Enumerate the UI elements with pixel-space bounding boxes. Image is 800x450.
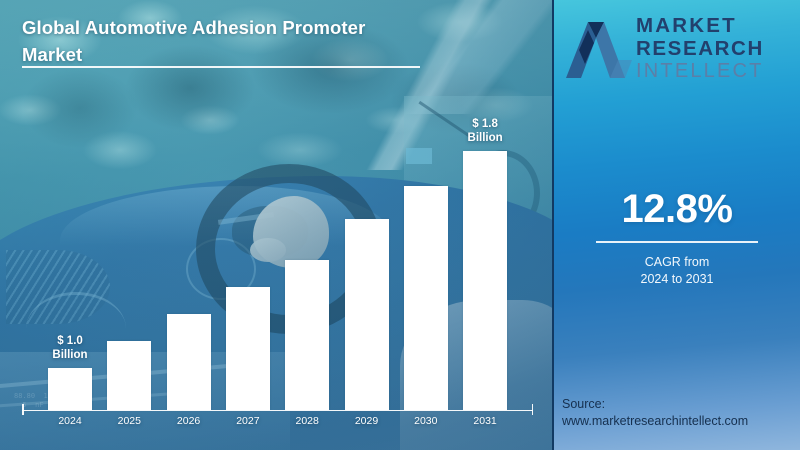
- bar-value-amount-2024: $ 1.0: [25, 334, 115, 348]
- cagr-value: 12.8%: [554, 186, 800, 232]
- logo-line-intellect: INTELLECT: [636, 60, 788, 83]
- x-axis-start-tick: [22, 404, 24, 415]
- left-chart-panel: 88.80 18 5 nF Global Automotive Adhesion…: [0, 0, 553, 450]
- x-axis-label-2025: 2025: [103, 415, 155, 427]
- x-axis-label-2024: 2024: [44, 415, 96, 427]
- bar-2024: [48, 368, 92, 410]
- x-axis-label-2027: 2027: [222, 415, 274, 427]
- x-axis-label-2029: 2029: [341, 415, 393, 427]
- x-axis-label-2028: 2028: [281, 415, 333, 427]
- bar-value-label-2031: $ 1.8Billion: [440, 117, 530, 145]
- bar-2030: [404, 186, 448, 410]
- brand-logo: MARKET RESEARCH INTELLECT: [566, 10, 788, 90]
- cagr-caption: CAGR from 2024 to 2031: [554, 254, 800, 288]
- source-block: Source: www.marketresearchintellect.com: [562, 396, 800, 430]
- infographic-root: 88.80 18 5 nF Global Automotive Adhesion…: [0, 0, 800, 450]
- cagr-caption-line-1: CAGR from: [554, 254, 800, 271]
- x-axis-label-2031: 2031: [459, 415, 511, 427]
- x-axis-line: [22, 410, 533, 412]
- x-axis-label-2026: 2026: [163, 415, 215, 427]
- logo-line-market: MARKET: [636, 14, 788, 37]
- bar-2026: [167, 314, 211, 410]
- logo-m-mark-icon: [566, 16, 632, 80]
- bar-value-unit-2031: Billion: [440, 131, 530, 145]
- cagr-divider: [596, 241, 758, 243]
- bar-2031: [463, 151, 507, 410]
- logo-wordmark: MARKET RESEARCH INTELLECT: [636, 14, 788, 83]
- logo-line-research: RESEARCH: [636, 37, 788, 60]
- bar-2028: [285, 260, 329, 411]
- bar-2025: [107, 341, 151, 410]
- bar-2027: [226, 287, 270, 410]
- source-label: Source:: [562, 396, 800, 413]
- cagr-block: 12.8% CAGR from 2024 to 2031: [554, 186, 800, 288]
- bar-chart: $ 1.0Billion$ 1.8Billion 202420252026202…: [0, 0, 553, 450]
- bar-value-label-2024: $ 1.0Billion: [25, 334, 115, 362]
- source-url[interactable]: www.marketresearchintellect.com: [562, 413, 800, 430]
- bar-value-unit-2024: Billion: [25, 348, 115, 362]
- x-axis-label-2030: 2030: [400, 415, 452, 427]
- bar-value-amount-2031: $ 1.8: [440, 117, 530, 131]
- cagr-caption-line-2: 2024 to 2031: [554, 271, 800, 288]
- x-axis-end-tick: [532, 404, 534, 415]
- bar-2029: [345, 219, 389, 410]
